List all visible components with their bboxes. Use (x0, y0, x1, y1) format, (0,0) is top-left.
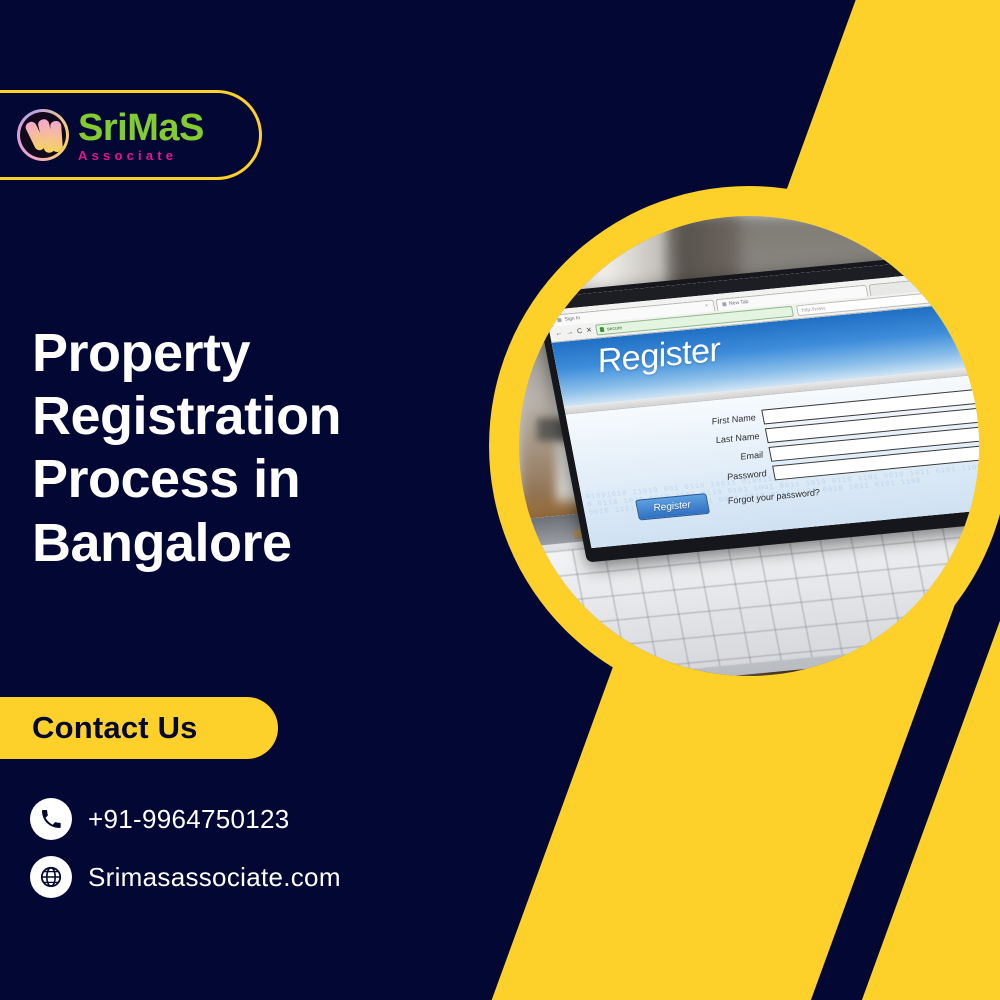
website-url: Srimasassociate.com (88, 862, 341, 893)
stop-icon[interactable]: ✕ (586, 327, 593, 334)
address-bar-text: http://www. (801, 305, 827, 313)
phone-icon (30, 798, 72, 840)
contact-details: +91-9964750123 Srimasassociate.com (30, 798, 341, 914)
poster-canvas: 14:22 Sign In × New Tab (0, 0, 1000, 1000)
browser-tab-label: Sign In (564, 316, 581, 323)
close-icon[interactable]: × (705, 303, 709, 309)
brand-name: SriMaS (78, 109, 204, 147)
contact-row-phone[interactable]: +91-9964750123 (30, 798, 341, 840)
forgot-password-link[interactable]: Forgot your password? (727, 488, 821, 507)
contact-us-label: Contact Us (32, 710, 198, 746)
laptop-lid: 14:22 Sign In × New Tab (535, 235, 979, 562)
contact-row-website[interactable]: Srimasassociate.com (30, 856, 341, 898)
phone-number: +91-9964750123 (88, 804, 290, 835)
contact-us-button[interactable]: Contact Us (0, 697, 278, 759)
back-icon[interactable]: ← (555, 330, 563, 338)
headline-line-2: Registration (32, 385, 502, 448)
brand-logo[interactable]: SriMaS Associate (0, 90, 262, 180)
headline-line-3: Process in (32, 448, 502, 511)
laptop-photo: 14:22 Sign In × New Tab (519, 216, 979, 676)
browser-tab-label: New Tab (729, 299, 750, 307)
security-badge-label: secure (607, 325, 623, 332)
page-icon (722, 303, 727, 307)
headline-line-4: Bangalore (32, 512, 502, 575)
lock-icon (600, 327, 605, 332)
brand-tagline: Associate (78, 149, 204, 162)
laptop-screen: 14:22 Sign In × New Tab (543, 242, 979, 549)
page-icon (557, 318, 562, 322)
page-title: Register (594, 331, 724, 381)
headline-line-1: Property (32, 322, 502, 385)
globe-icon (30, 856, 72, 898)
brand-logo-text: SriMaS Associate (78, 109, 204, 162)
page-headline: Property Registration Process in Bangalo… (32, 322, 502, 575)
hand-gradient-circle-icon (17, 109, 69, 161)
reload-icon[interactable]: C (577, 328, 583, 335)
forward-icon[interactable]: → (566, 329, 574, 337)
laptop: 14:22 Sign In × New Tab (519, 262, 979, 676)
